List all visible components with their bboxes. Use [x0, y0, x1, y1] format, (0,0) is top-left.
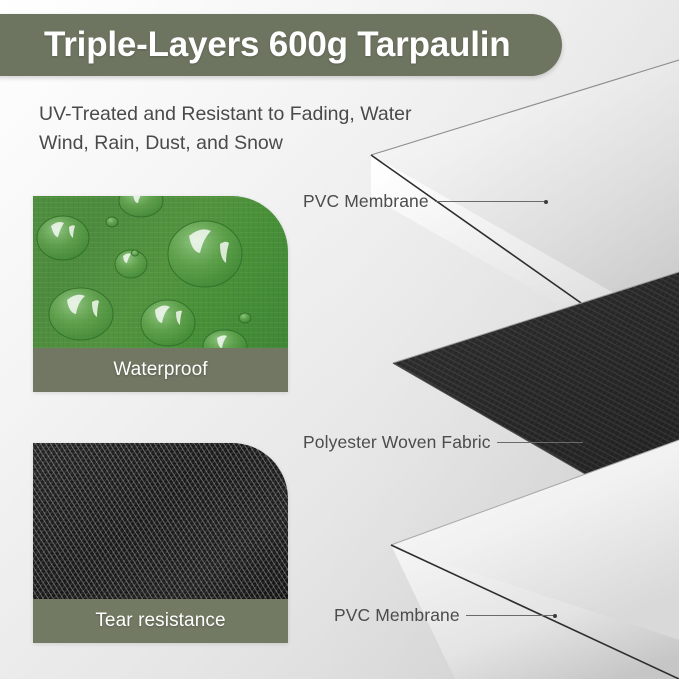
- subtitle-line-2: Wind, Rain, Dust, and Snow: [39, 129, 439, 158]
- callout-leader-line: [466, 615, 554, 616]
- tear-resistance-caption: Tear resistance: [33, 599, 288, 643]
- tear-resistance-image: [33, 443, 288, 599]
- callout-leader-line: [497, 442, 583, 443]
- waterproof-caption-label: Waterproof: [113, 359, 207, 381]
- water-droplets: [33, 196, 288, 348]
- page-title: Triple-Layers 600g Tarpaulin: [44, 25, 510, 65]
- callout-label-pvc-bottom: PVC Membrane: [334, 605, 460, 626]
- callout-label-polyester: Polyester Woven Fabric: [303, 432, 491, 453]
- callout-endpoint-dot: [544, 200, 548, 204]
- waterproof-caption: Waterproof: [33, 348, 288, 392]
- callout-pvc-membrane-bottom: PVC Membrane: [334, 605, 557, 626]
- tear-resistance-caption-label: Tear resistance: [95, 610, 225, 632]
- feature-panel-waterproof: Waterproof: [33, 196, 288, 392]
- subtitle: UV-Treated and Resistant to Fading, Wate…: [39, 100, 439, 158]
- title-banner: Triple-Layers 600g Tarpaulin: [0, 14, 562, 76]
- callout-leader-line: [435, 201, 545, 202]
- infographic-root: Triple-Layers 600g Tarpaulin UV-Treated …: [0, 0, 679, 679]
- woven-fabric-surface: [33, 443, 288, 599]
- callout-pvc-membrane-top: PVC Membrane: [303, 191, 548, 212]
- callout-endpoint-dot: [553, 614, 557, 618]
- waterproof-image: [33, 196, 288, 348]
- callout-polyester-woven-fabric: Polyester Woven Fabric: [303, 432, 583, 453]
- callout-label-pvc-top: PVC Membrane: [303, 191, 429, 212]
- feature-panel-tear-resistance: Tear resistance: [33, 443, 288, 643]
- subtitle-line-1: UV-Treated and Resistant to Fading, Wate…: [39, 100, 439, 129]
